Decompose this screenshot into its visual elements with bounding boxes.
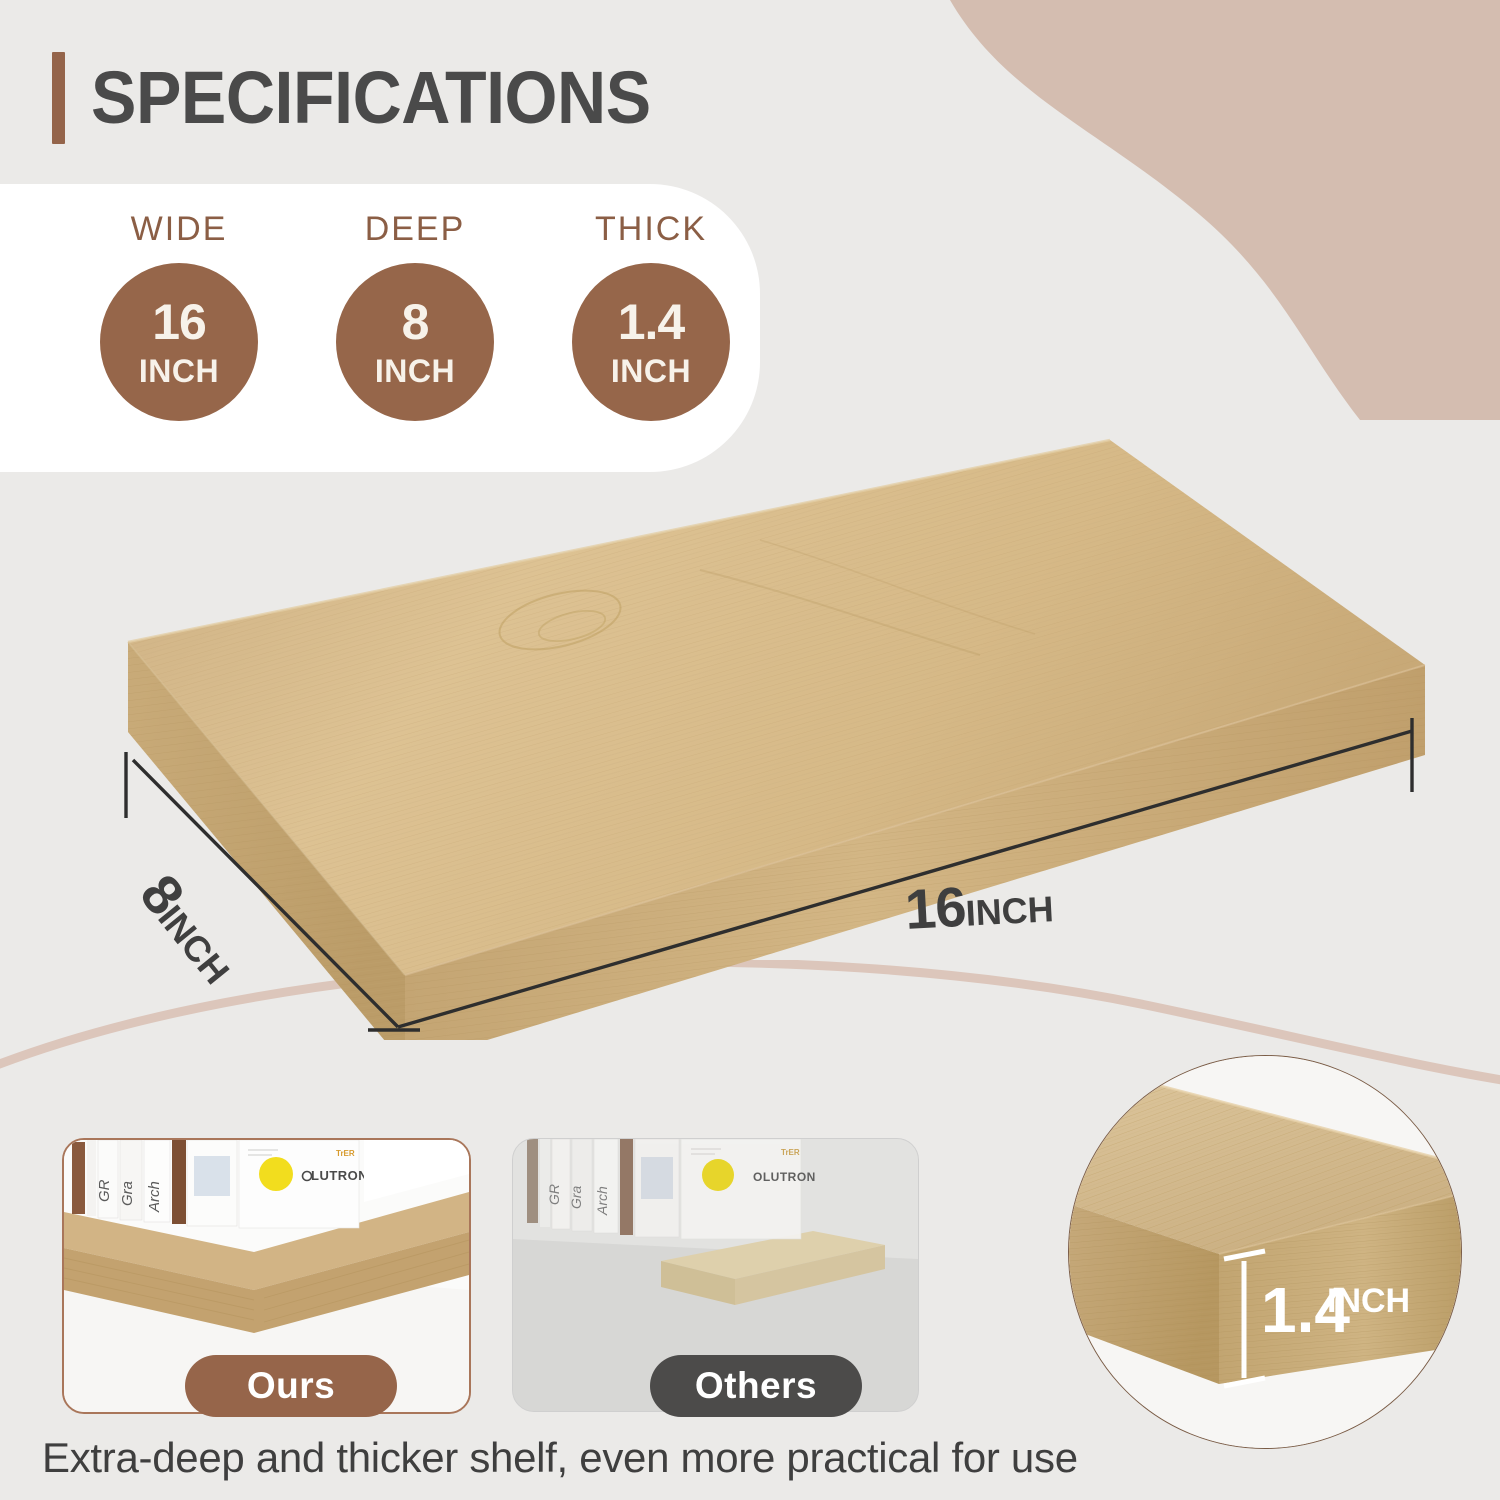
spec-unit-deep: INCH: [375, 355, 455, 387]
svg-text:GR: GR: [546, 1184, 562, 1205]
svg-text:GR: GR: [96, 1179, 113, 1202]
svg-text:OLUTRON: OLUTRON: [753, 1170, 816, 1184]
spec-label-thick: THICK: [595, 210, 707, 249]
spec-label-deep: DEEP: [365, 210, 466, 249]
spec-circle-thick: 1.4 INCH: [572, 263, 730, 421]
svg-text:Gra: Gra: [119, 1181, 136, 1206]
svg-text:TrER: TrER: [336, 1149, 355, 1158]
ours-books: LUTRON TrER GR Gra Arch: [72, 1140, 368, 1228]
svg-text:TrER: TrER: [781, 1148, 800, 1157]
closeup-scene: 1.4 INCH: [1069, 1056, 1461, 1448]
closeup-unit: INCH: [1327, 1282, 1410, 1320]
spec-circle-deep: 8 INCH: [336, 263, 494, 421]
comparison-pill-others[interactable]: Others: [650, 1355, 862, 1417]
page-header: SPECIFICATIONS: [52, 52, 699, 144]
spec-value-wide: 16: [152, 297, 206, 347]
spec-badge-wide: WIDE 16 INCH: [100, 210, 258, 421]
bottom-caption: Extra-deep and thicker shelf, even more …: [42, 1434, 1078, 1482]
spec-label-wide: WIDE: [131, 210, 228, 249]
spec-badge-deep: DEEP 8 INCH: [336, 210, 494, 421]
dimension-label-width: 16 INCH: [903, 869, 1054, 942]
svg-text:Arch: Arch: [146, 1181, 163, 1213]
svg-text:Arch: Arch: [594, 1186, 610, 1216]
spec-unit-wide: INCH: [139, 355, 219, 387]
page-title: SPECIFICATIONS: [91, 61, 651, 135]
spec-badge-thick: THICK 1.4 INCH: [572, 210, 730, 421]
decorative-blob-top-right: [800, 0, 1500, 420]
spec-value-deep: 8: [402, 297, 429, 347]
dimension-width-value: 16: [903, 874, 967, 942]
svg-text:LUTRON: LUTRON: [311, 1168, 368, 1183]
infographic-canvas: SPECIFICATIONS WIDE 16 INCH DEEP 8 INCH …: [0, 0, 1500, 1500]
spec-value-thick: 1.4: [618, 297, 685, 347]
svg-text:Gra: Gra: [568, 1185, 584, 1209]
dimension-width-unit: INCH: [965, 888, 1055, 935]
spec-circle-wide: 16 INCH: [100, 263, 258, 421]
spec-unit-thick: INCH: [611, 355, 691, 387]
spec-badge-row: WIDE 16 INCH DEEP 8 INCH THICK 1.4 INCH: [100, 210, 730, 421]
title-accent-bar: [52, 52, 65, 144]
closeup-thickness-circle: 1.4 INCH: [1068, 1055, 1462, 1449]
comparison-pill-ours[interactable]: Ours: [185, 1355, 397, 1417]
